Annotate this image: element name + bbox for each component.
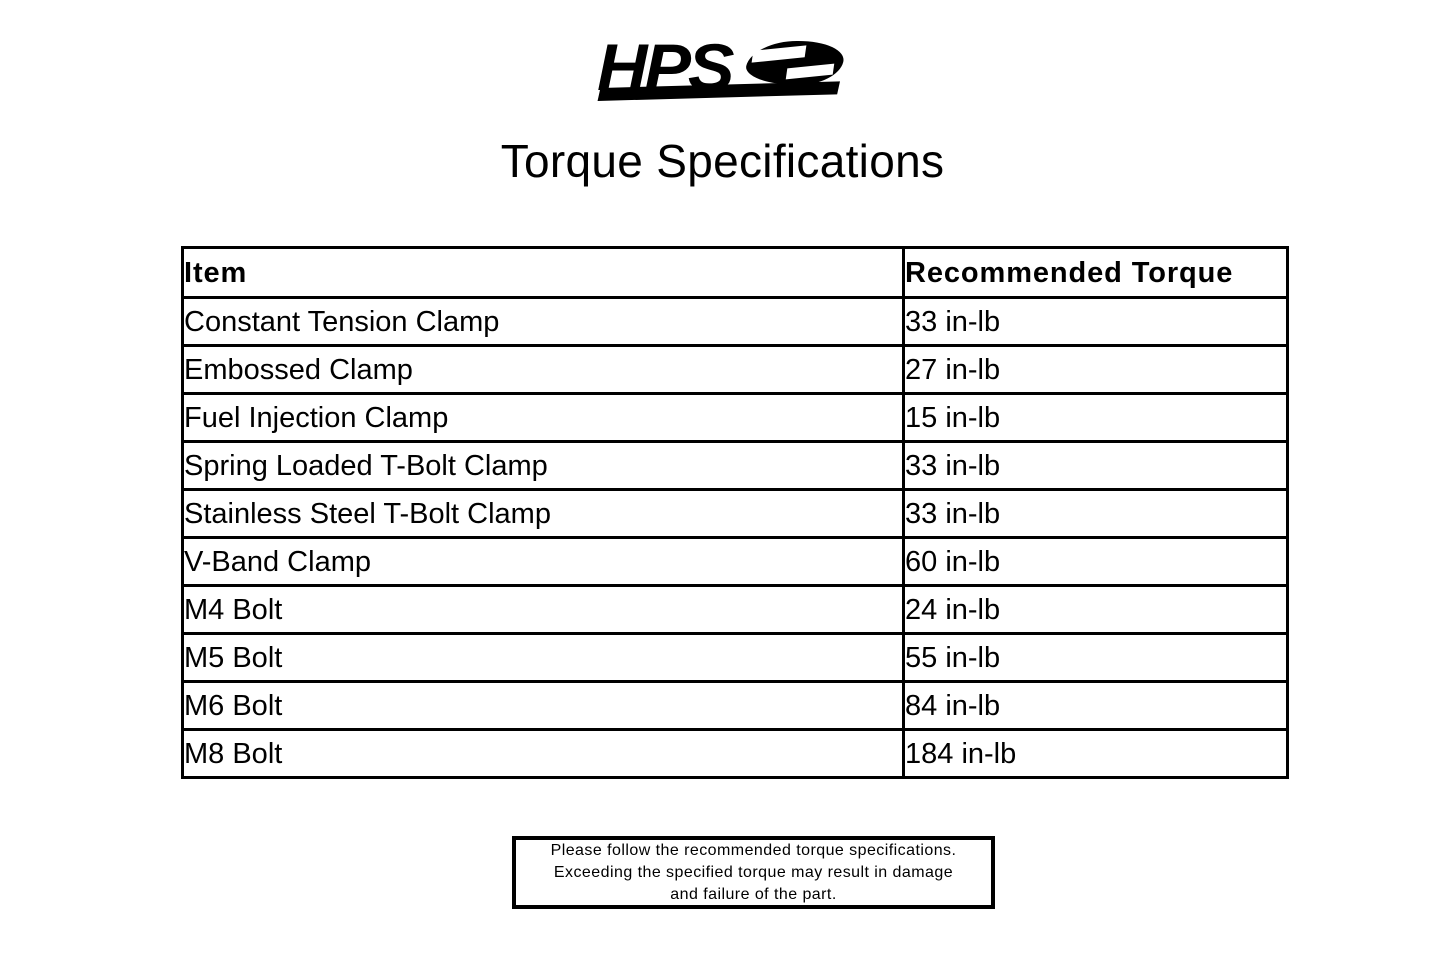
page-title: Torque Specifications	[0, 133, 1445, 189]
table-row: V-Band Clamp 60 in-lb	[183, 538, 1288, 586]
cell-torque: 184 in-lb	[904, 730, 1288, 778]
table-header-row: Item Recommended Torque	[183, 248, 1288, 298]
cell-item: Embossed Clamp	[183, 346, 904, 394]
cell-torque: 24 in-lb	[904, 586, 1288, 634]
table-header: Item Recommended Torque	[183, 248, 1288, 298]
table-row: M4 Bolt 24 in-lb	[183, 586, 1288, 634]
table-row: M6 Bolt 84 in-lb	[183, 682, 1288, 730]
warning-note-box: Please follow the recommended torque spe…	[512, 836, 995, 909]
cell-torque: 15 in-lb	[904, 394, 1288, 442]
cell-torque: 33 in-lb	[904, 442, 1288, 490]
warning-note-line: Please follow the recommended torque spe…	[551, 840, 957, 862]
column-header-recommended-torque: Recommended Torque	[904, 248, 1288, 298]
cell-torque: 55 in-lb	[904, 634, 1288, 682]
warning-note-line: Exceeding the specified torque may resul…	[554, 862, 953, 884]
cell-torque: 60 in-lb	[904, 538, 1288, 586]
cell-item: M6 Bolt	[183, 682, 904, 730]
cell-item: Constant Tension Clamp	[183, 298, 904, 346]
cell-torque: 84 in-lb	[904, 682, 1288, 730]
table-row: M8 Bolt 184 in-lb	[183, 730, 1288, 778]
table-row: Stainless Steel T-Bolt Clamp 33 in-lb	[183, 490, 1288, 538]
table-row: Embossed Clamp 27 in-lb	[183, 346, 1288, 394]
cell-item: M4 Bolt	[183, 586, 904, 634]
table-row: Fuel Injection Clamp 15 in-lb	[183, 394, 1288, 442]
brand-header: HPS	[0, 38, 1445, 110]
cell-item: Fuel Injection Clamp	[183, 394, 904, 442]
table-row: Spring Loaded T-Bolt Clamp 33 in-lb	[183, 442, 1288, 490]
table-body: Constant Tension Clamp 33 in-lb Embossed…	[183, 298, 1288, 778]
cell-item: V-Band Clamp	[183, 538, 904, 586]
cell-item: M8 Bolt	[183, 730, 904, 778]
cell-item: Spring Loaded T-Bolt Clamp	[183, 442, 904, 490]
warning-note-line: and failure of the part.	[670, 884, 836, 906]
torque-specifications-table: Item Recommended Torque Constant Tension…	[181, 246, 1289, 779]
column-header-item: Item	[183, 248, 904, 298]
table-row: Constant Tension Clamp 33 in-lb	[183, 298, 1288, 346]
cell-torque: 33 in-lb	[904, 298, 1288, 346]
hps-logo: HPS	[597, 38, 842, 108]
cell-item: Stainless Steel T-Bolt Clamp	[183, 490, 904, 538]
cell-item: M5 Bolt	[183, 634, 904, 682]
cell-torque: 33 in-lb	[904, 490, 1288, 538]
cell-torque: 27 in-lb	[904, 346, 1288, 394]
table-row: M5 Bolt 55 in-lb	[183, 634, 1288, 682]
